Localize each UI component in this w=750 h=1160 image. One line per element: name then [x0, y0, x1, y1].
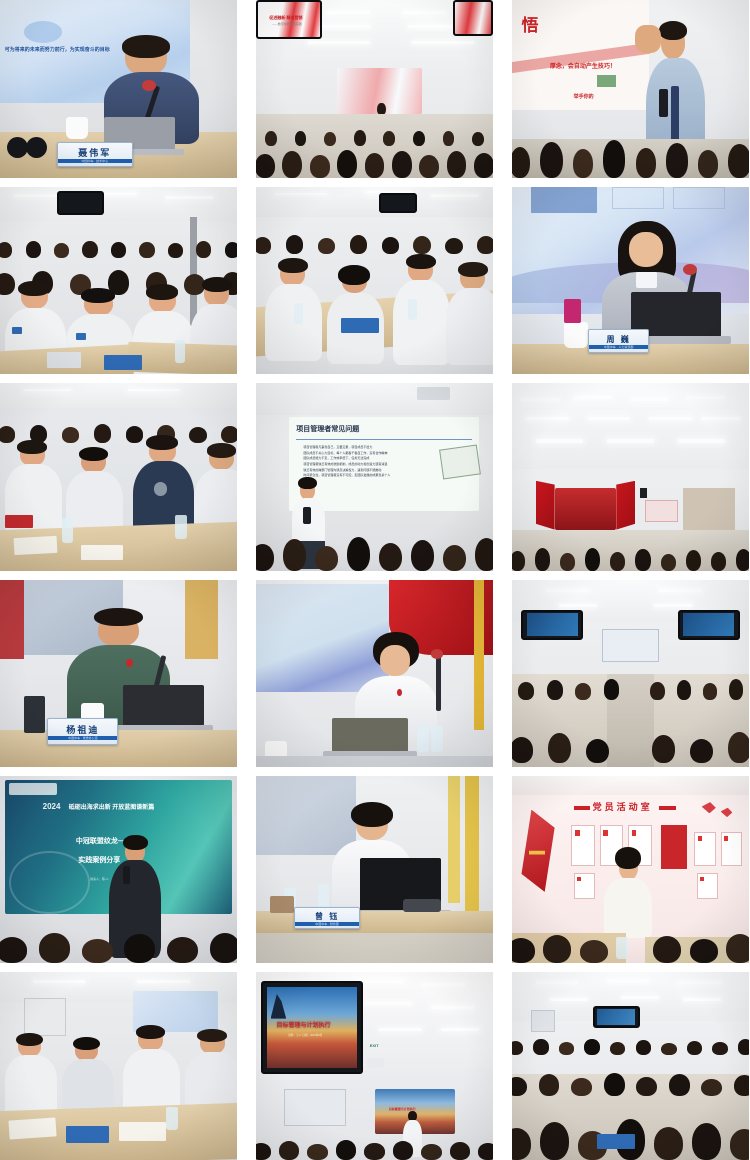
photo-tile[interactable]: 曾 钰 中国中车 · 财务部: [256, 776, 493, 963]
nameplate-subtitle: 中国中车 · 财务部: [295, 922, 359, 926]
photo-2-slide-sub: ——数字化转型与实践: [272, 22, 302, 26]
photo-tile[interactable]: [0, 383, 237, 571]
photo-2-slide-title: 促进融新·精准营销: [269, 15, 302, 21]
nameplate-subtitle: 中国中车 · 党委办公室: [48, 736, 117, 740]
photo-16-scene: [0, 972, 237, 1160]
nameplate-name: 曾 钰: [315, 911, 339, 922]
photo-15-scene: 党员活动室: [512, 776, 749, 963]
photo-8-bullet: 时间紧急性，项目管理者没有不可控，走团队发展的成果靠某个人: [303, 473, 390, 479]
photo-tile[interactable]: 党员活动室: [512, 776, 749, 963]
photo-tile[interactable]: 目标管理与计划执行 讲师：王×× 日期：2024年6月 目标管理与计划执行 EX…: [256, 972, 493, 1160]
photo-17-exit-sign: EXIT: [370, 1043, 379, 1048]
photo-13-slide-headline: 砥砺出海求出新 开放蓝图谱新篇: [69, 802, 155, 811]
photo-3-slide-text2: 举手你的: [574, 93, 594, 100]
photo-tile[interactable]: [512, 580, 749, 767]
photo-tile[interactable]: 周 巍 中国中车 · 人力资源部: [512, 187, 749, 374]
nameplate-name: 聂伟军: [78, 146, 111, 159]
photo-6-nameplate: 周 巍 中国中车 · 人力资源部: [588, 329, 650, 353]
photo-tile[interactable]: 2024 砥砺出海求出新 开放蓝图谱新篇 中冠联盟纹龙—例 实践案例分享 讲演人…: [0, 776, 237, 963]
photo-3-slide-text: 厚念，会自动产生技巧！: [550, 61, 616, 70]
nameplate-subtitle: 中国中车 · 技术中心: [58, 159, 132, 163]
photo-6-scene: 周 巍 中国中车 · 人力资源部: [512, 187, 749, 374]
photo-1-nameplate: 聂伟军 中国中车 · 技术中心: [57, 142, 133, 167]
photo-17-slide-title: 目标管理与计划执行: [276, 1020, 330, 1029]
nameplate-name: 杨祖迪: [66, 723, 99, 736]
photo-5-scene: [256, 187, 493, 374]
photo-4-scene: [0, 187, 237, 374]
photo-7-scene: [0, 383, 237, 571]
photo-15-room-title: 党员活动室: [593, 800, 653, 813]
photo-13-scene: 2024 砥砺出海求出新 开放蓝图谱新篇 中冠联盟纹龙—例 实践案例分享 讲演人…: [0, 776, 237, 963]
photo-13-slide-presenter: 讲演人：陈××: [90, 877, 109, 881]
photo-18-scene: [512, 972, 749, 1160]
photo-tile[interactable]: 悟 厚念，会自动产生技巧！ 举手你的: [512, 0, 749, 178]
photo-8-slide-title: 项目管理者常见问题: [296, 424, 359, 434]
photo-14-nameplate: 曾 钰 中国中车 · 财务部: [294, 907, 360, 929]
photo-tile[interactable]: 项目管理者常见问题 项目管理者凡事靠自己，又要又累，项目成员不给力 团队成员不关…: [256, 383, 493, 571]
photo-1-scene: 可为将来的未来而努力前行，为实现奋斗的目标 聂伟军 中国中车 · 技术中心: [0, 0, 237, 178]
photo-tile[interactable]: [0, 972, 237, 1160]
photo-tile[interactable]: 杨祖迪 中国中车 · 党委办公室: [0, 580, 237, 767]
photo-3-slide-big: 悟: [521, 11, 538, 36]
photo-10-scene: 杨祖迪 中国中车 · 党委办公室: [0, 580, 237, 767]
photo-8-scene: 项目管理者常见问题 项目管理者凡事靠自己，又要又累，项目成员不给力 团队成员不关…: [256, 383, 493, 571]
photo-17-slide-sub: 讲师：王×× 日期：2024年6月: [288, 1033, 322, 1037]
photo-tile[interactable]: 可为将来的未来而努力前行，为实现奋斗的目标 聂伟军 中国中车 · 技术中心: [0, 0, 237, 178]
photo-8-bullet: 项目管理者缺乏有效的激励机制，成员的动力和创造力逐渐消退: [303, 462, 390, 468]
photo-tile[interactable]: 促进融新·精准营销 ——数字化转型与实践: [256, 0, 493, 178]
photo-tile[interactable]: [512, 972, 749, 1160]
photo-14-scene: 曾 钰 中国中车 · 财务部: [256, 776, 493, 963]
photo-11-scene: [256, 580, 493, 767]
photo-13-slide-year: 2024: [43, 802, 61, 811]
photo-tile[interactable]: [256, 187, 493, 374]
nameplate-name: 周 巍: [607, 334, 631, 345]
photo-tile[interactable]: [0, 187, 237, 374]
photo-3-scene: 悟 厚念，会自动产生技巧！ 举手你的: [512, 0, 749, 178]
photo-1-slide-text: 可为将来的未来而努力前行，为实现奋斗的目标: [5, 46, 110, 53]
photo-tile[interactable]: [512, 383, 749, 571]
photo-9-scene: [512, 383, 749, 571]
nameplate-subtitle: 中国中车 · 人力资源部: [589, 345, 649, 349]
photo-12-scene: [512, 580, 749, 767]
photo-17-scene: 目标管理与计划执行 讲师：王×× 日期：2024年6月 目标管理与计划执行 EX…: [256, 972, 493, 1160]
photo-10-nameplate: 杨祖迪 中国中车 · 党委办公室: [47, 718, 118, 744]
photo-gallery-grid: 可为将来的未来而努力前行，为实现奋斗的目标 聂伟军 中国中车 · 技术中心: [0, 0, 750, 1125]
photo-2-scene: 促进融新·精准营销 ——数字化转型与实践: [256, 0, 493, 178]
photo-tile[interactable]: [256, 580, 493, 767]
